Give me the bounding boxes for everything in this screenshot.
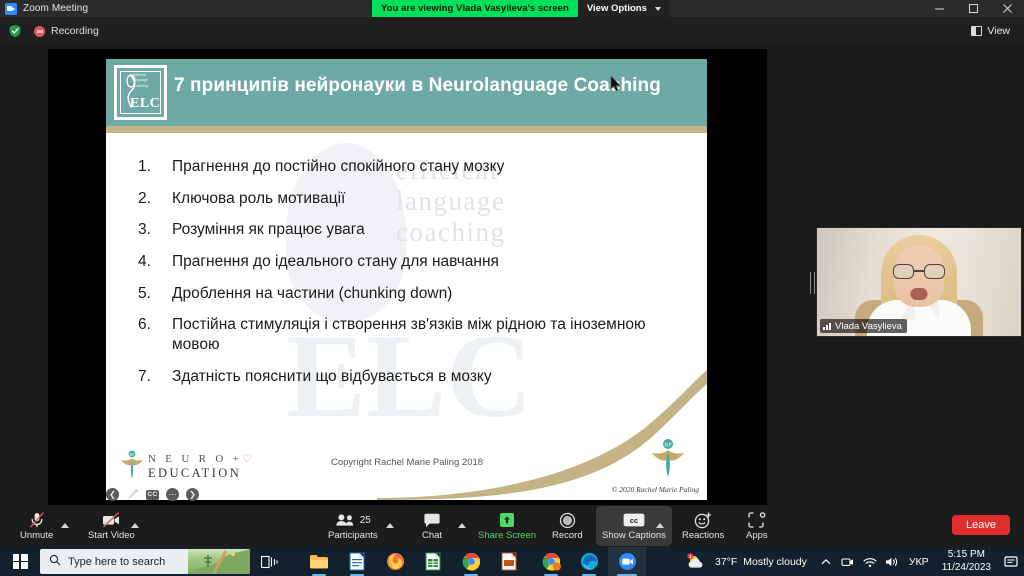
mouse-cursor [610, 76, 621, 92]
elc-logo: Efficient language Coaching ELC [114, 65, 167, 120]
list-item-text: Постійна стимуляція і створення зв'язків… [172, 315, 687, 355]
presentation-slide: efficient language coaching ELC [106, 59, 707, 500]
neuro-line-2: EDUCATION [148, 467, 252, 480]
list-item-text: Здатність пояснити що відбувається в моз… [172, 367, 687, 387]
rachel-paling-emblem: RP [651, 438, 685, 478]
weather-temperature: 37°F [715, 556, 737, 568]
list-item-number: 7. [138, 367, 158, 387]
participant-name: Vlada Vasylieva [835, 321, 902, 332]
glasses-icon [893, 264, 945, 279]
arrow-right-icon: ❯ [186, 488, 199, 501]
list-item-number: 5. [138, 284, 158, 304]
list-item-number: 3. [138, 220, 158, 240]
list-item-number: 1. [138, 157, 158, 177]
recording-label: Recording [51, 25, 99, 37]
glasses-bridge [914, 270, 924, 272]
word-document-icon[interactable] [338, 547, 376, 576]
start-video-label: Start Video [88, 531, 135, 541]
show-captions-label: Show Captions [602, 531, 666, 541]
elc-tagline: Efficient language Coaching [133, 73, 161, 89]
participants-button[interactable]: 25 Participants [322, 505, 384, 547]
window-buttons [922, 0, 1024, 17]
svg-text:RP: RP [664, 443, 672, 449]
screen-share-banner: You are viewing Vlada Vasylieva's screen… [372, 0, 670, 17]
list-item-number: 4. [138, 252, 158, 272]
layout-icon [971, 26, 982, 36]
viewing-screen-label: You are viewing Vlada Vasylieva's screen [372, 0, 578, 17]
pdf-reader-icon[interactable] [490, 547, 528, 576]
record-icon [559, 512, 576, 529]
chat-bubble-icon [423, 512, 441, 529]
zoom-taskbar-icon[interactable] [608, 547, 646, 576]
list-item-text: Ключова роль мотивації [172, 189, 687, 209]
file-explorer-icon[interactable] [300, 547, 338, 576]
list-item-number: 2. [138, 189, 158, 209]
annotate-pen-button[interactable] [126, 488, 139, 501]
record-button[interactable]: Record [546, 505, 589, 547]
clock-time: 5:15 PM [942, 549, 991, 562]
view-options-button[interactable]: View Options [578, 0, 670, 17]
participant-name-badge: Vlada Vasylieva [820, 319, 907, 333]
slide-principles-list: 1. Прагнення до постійно спокійного стан… [138, 157, 687, 399]
show-hidden-icons-button[interactable] [815, 547, 837, 576]
svg-text:cc: cc [630, 516, 638, 525]
closed-captions-icon: cc [623, 512, 645, 529]
share-screen-icon [497, 512, 517, 529]
video-options-caret[interactable] [128, 518, 142, 532]
minimize-button[interactable] [922, 0, 956, 17]
list-item-text: Розуміння як працює увага [172, 220, 687, 240]
shared-screen-area[interactable]: efficient language coaching ELC [48, 49, 767, 505]
windows-logo-icon [13, 554, 28, 569]
elc-mark: ELC [130, 96, 160, 112]
glasses-lens-left [893, 264, 914, 279]
zoom-control-bar: Unmute Start Video 2 [0, 505, 1024, 547]
recording-status-bar: Recording View [0, 17, 1024, 45]
volume-icon[interactable] [881, 547, 903, 576]
cc-icon: CC [146, 490, 159, 500]
weather-icon: 1 [687, 553, 709, 571]
taskbar-app-icons [300, 547, 646, 576]
view-layout-button[interactable]: View [965, 22, 1016, 40]
reactions-button[interactable]: Reactions [676, 505, 730, 547]
participant-video-thumbnail[interactable]: Vlada Vasylieva [816, 227, 1022, 337]
search-placeholder: Type here to search [68, 556, 165, 568]
record-dot-icon [34, 26, 45, 37]
leave-meeting-button[interactable]: Leave [952, 515, 1010, 535]
next-slide-button[interactable]: ❯ [186, 488, 199, 501]
more-options-button[interactable]: ⋯ [166, 488, 179, 501]
notification-center-button[interactable] [998, 547, 1024, 576]
list-item-text: Прагнення до ідеального стану для навчан… [172, 252, 687, 272]
share-screen-label: Share Screen [478, 531, 536, 541]
clock-date: 11/24/2023 [942, 562, 991, 575]
zoom-meeting-window: Zoom Meeting You are viewing Vlada Vasyl… [0, 0, 1024, 576]
glasses-lens-right [924, 264, 945, 279]
apps-icon [748, 512, 766, 529]
unmute-label: Unmute [20, 531, 53, 541]
list-item-text: Дроблення на частини (chunking down) [172, 284, 687, 304]
start-button[interactable] [0, 547, 40, 576]
list-item: 6. Постійна стимуляція і створення зв'яз… [138, 315, 687, 355]
elc-tagline-line-3: Coaching [133, 84, 161, 89]
svg-text:RP: RP [130, 452, 136, 457]
audio-options-caret[interactable] [58, 518, 72, 532]
weather-condition: Mostly cloudy [743, 556, 807, 568]
slide-gold-band [106, 126, 707, 133]
slide-copyright-center: Copyright Rachel Marie Paling 2018 [331, 457, 483, 468]
heart-icon: ♡ [242, 453, 252, 465]
list-item: 2. Ключова роль мотивації [138, 189, 687, 209]
participants-count: 25 [360, 515, 371, 526]
list-item: 5. Дроблення на частини (chunking down) [138, 284, 687, 304]
chat-button[interactable]: Chat [416, 505, 448, 547]
chat-options-caret[interactable] [455, 518, 469, 532]
task-view-button[interactable] [250, 547, 288, 576]
window-titlebar: Zoom Meeting You are viewing Vlada Vasyl… [0, 0, 1024, 17]
record-label: Record [552, 531, 583, 541]
edge-icon[interactable] [570, 547, 608, 576]
wings-icon: RP [120, 450, 144, 480]
search-highlight-image [188, 549, 250, 574]
windows-taskbar: Type here to search [0, 547, 1024, 576]
camera-muted-icon [101, 512, 121, 529]
previous-slide-button[interactable]: ❮ [106, 488, 119, 501]
neuro-education-logo: RP N E U R O +♡ EDUCATION [120, 450, 252, 480]
elc-logo-inner: Efficient language Coaching ELC [117, 68, 164, 117]
list-item: 4. Прагнення до ідеального стану для нав… [138, 252, 687, 272]
search-input[interactable]: Type here to search [40, 549, 250, 574]
list-item: 7. Здатність пояснити що відбувається в … [138, 367, 687, 387]
annotation-toolbar[interactable]: ❮ CC ⋯ ❯ [106, 488, 199, 501]
encryption-shield-icon[interactable] [8, 24, 22, 38]
list-item: 1. Прагнення до постійно спокійного стан… [138, 157, 687, 177]
participants-label: Participants [328, 531, 378, 541]
recording-indicator[interactable]: Recording [34, 25, 99, 37]
captions-toggle-button[interactable]: CC [146, 488, 159, 501]
microphone-muted-icon [28, 512, 46, 529]
chrome-secondary-icon[interactable] [532, 547, 570, 576]
view-options-label: View Options [587, 3, 647, 14]
meeting-camera-icon[interactable] [837, 547, 859, 576]
thumbnail-drag-handle[interactable] [810, 272, 815, 294]
maximize-button[interactable] [956, 0, 990, 17]
captions-options-caret[interactable] [653, 518, 667, 532]
system-tray: 1 37°F Mostly cloudy [679, 547, 1024, 576]
network-icon[interactable] [859, 547, 881, 576]
list-item-text: Прагнення до постійно спокійного стану м… [172, 157, 687, 177]
unmute-button[interactable]: Unmute [14, 505, 59, 547]
signal-strength-icon [823, 322, 831, 330]
neuro-education-wordmark: N E U R O +♡ EDUCATION [148, 450, 252, 480]
zoom-app-icon [5, 3, 17, 15]
chrome-icon[interactable] [452, 547, 490, 576]
reactions-label: Reactions [682, 531, 724, 541]
neuro-text: N E U R O + [148, 453, 242, 465]
clock[interactable]: 5:15 PM 11/24/2023 [935, 549, 998, 574]
participants-options-caret[interactable] [383, 518, 397, 532]
firefox-icon[interactable] [376, 547, 414, 576]
neuro-line-1: N E U R O +♡ [148, 453, 252, 465]
slide-copyright-right: © 2020 Rachel Marie Paling [612, 485, 699, 494]
apps-button[interactable]: Apps [740, 505, 774, 547]
close-button[interactable] [990, 0, 1024, 17]
excel-spreadsheet-icon[interactable] [414, 547, 452, 576]
ellipsis-icon: ⋯ [166, 488, 179, 501]
participants-icon: 25 [335, 512, 371, 529]
reactions-smiley-icon [694, 512, 712, 529]
window-title: Zoom Meeting [23, 3, 88, 14]
mouth-shape [911, 288, 928, 300]
chat-label: Chat [422, 531, 442, 541]
language-indicator[interactable]: УКР [903, 556, 935, 568]
view-button-label: View [987, 25, 1010, 37]
weather-widget[interactable]: 1 37°F Mostly cloudy [679, 547, 815, 576]
share-screen-button[interactable]: Share Screen [472, 505, 542, 547]
search-icon [49, 554, 61, 569]
chevron-down-icon [655, 7, 661, 11]
list-item-number: 6. [138, 315, 158, 355]
apps-label: Apps [746, 531, 768, 541]
arrow-left-icon: ❮ [106, 488, 119, 501]
list-item: 3. Розуміння як працює увага [138, 220, 687, 240]
